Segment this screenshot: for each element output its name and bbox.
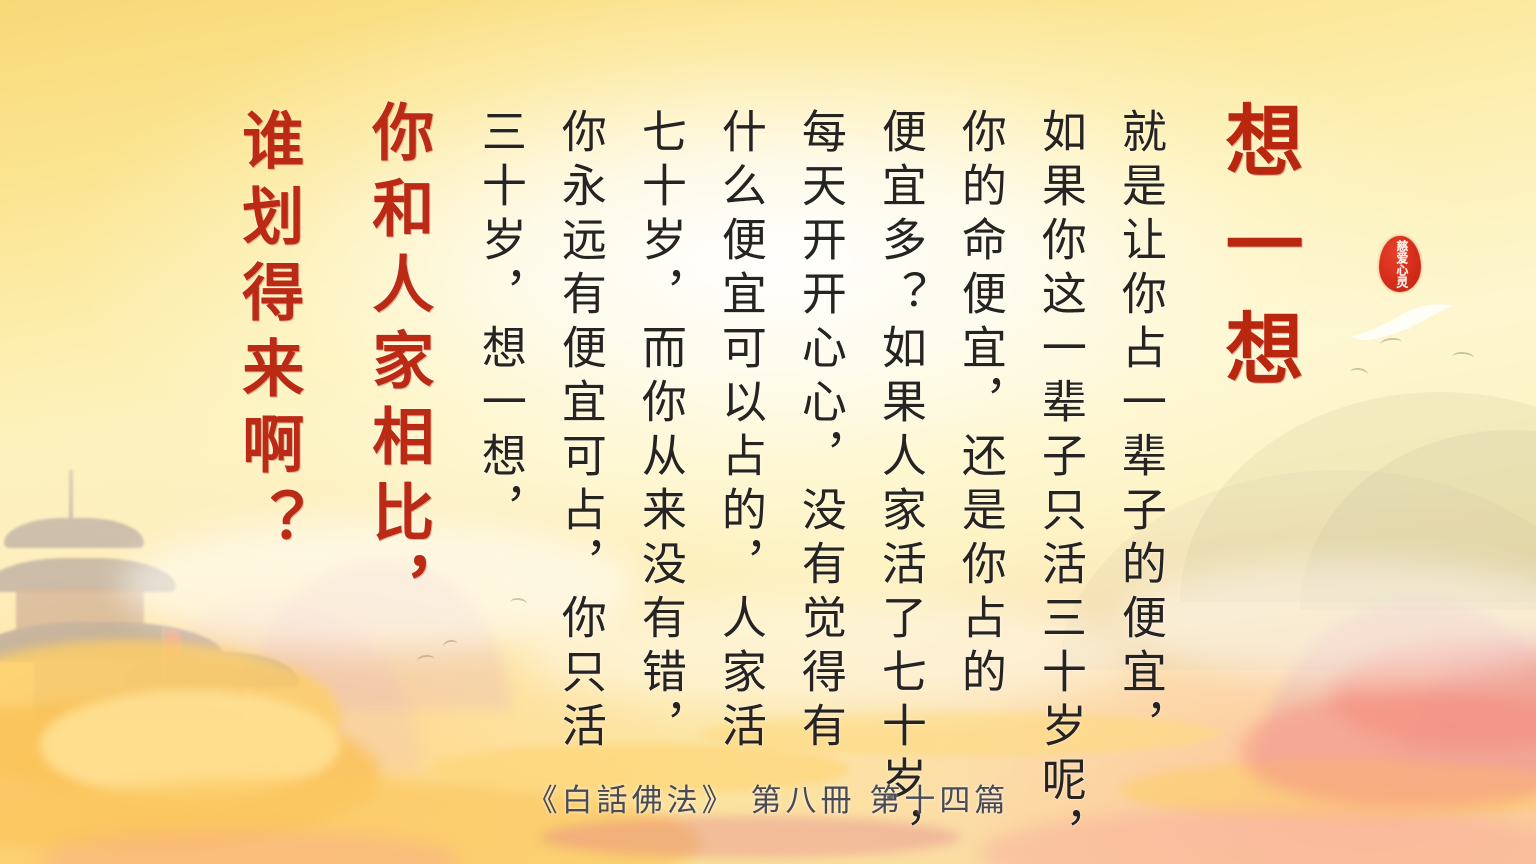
body-column-3: 你的命便宜，还是你占的 <box>957 108 1003 702</box>
body-column-4: 便宜多？如果人家活了七十岁， <box>877 108 923 864</box>
bird-mark-icon <box>442 639 459 652</box>
cloud-coral-right-b <box>1330 640 1536 750</box>
source-attribution: 《白話佛法》 第八冊 第十四篇 <box>0 775 1536 820</box>
body-column-5: 每天开开心心，没有觉得有 <box>797 108 843 756</box>
mist-veil-right <box>1120 560 1536 680</box>
cloud-coral-bottom-left <box>40 830 460 864</box>
bird-mark-icon <box>1452 351 1475 364</box>
body-column-8: 你永远有便宜可占，你只活 <box>557 108 603 756</box>
hill-far-right <box>1180 392 1536 602</box>
mountain-pink-far-right <box>1400 630 1536 790</box>
highlight-column-1: 你和人家相比， <box>366 100 429 632</box>
pagoda-wall-upper <box>16 588 144 634</box>
pagoda-roof-top <box>4 518 144 548</box>
hill-mid-right <box>1300 430 1536 610</box>
crane-icon <box>1345 300 1463 344</box>
mountain-pink-right <box>1255 600 1536 790</box>
cloud-gold-left-a <box>0 640 340 790</box>
pagoda-spire <box>69 470 73 526</box>
seal-stamp: 慈爱心灵 <box>1379 236 1421 292</box>
temple-roof-right <box>124 652 299 688</box>
body-column-6: 什么便宜可以占的，人家活 <box>717 108 763 756</box>
bird-mark-icon <box>416 654 435 667</box>
temple-flag <box>164 630 182 660</box>
body-column-9: 三十岁，想一想， <box>477 108 523 540</box>
bird-mark-icon <box>1379 337 1402 350</box>
temple-flag-pole <box>162 628 165 684</box>
bird-mark-icon <box>1349 367 1368 380</box>
body-column-7: 七十岁，而你从来没有错， <box>637 108 683 756</box>
body-column-1: 就是让你占一辈子的便宜， <box>1117 108 1163 756</box>
body-column-2: 如果你这一辈子只活三十岁呢， <box>1037 108 1083 864</box>
pagoda-roof-third <box>0 622 224 662</box>
page-title: 想一想 <box>1218 100 1298 412</box>
pagoda-roof-second <box>0 558 176 592</box>
temple-wall-lower <box>34 658 244 720</box>
seal-text: 慈爱心灵 <box>1394 240 1406 288</box>
bird-mark-icon <box>509 597 527 610</box>
highlight-column-2: 谁划得来啊？ <box>236 108 299 564</box>
poster-canvas: 想一想 慈爱心灵 就是让你占一辈子的便宜， 如果你这一辈子只活三十岁呢， 你的命… <box>0 0 1536 864</box>
